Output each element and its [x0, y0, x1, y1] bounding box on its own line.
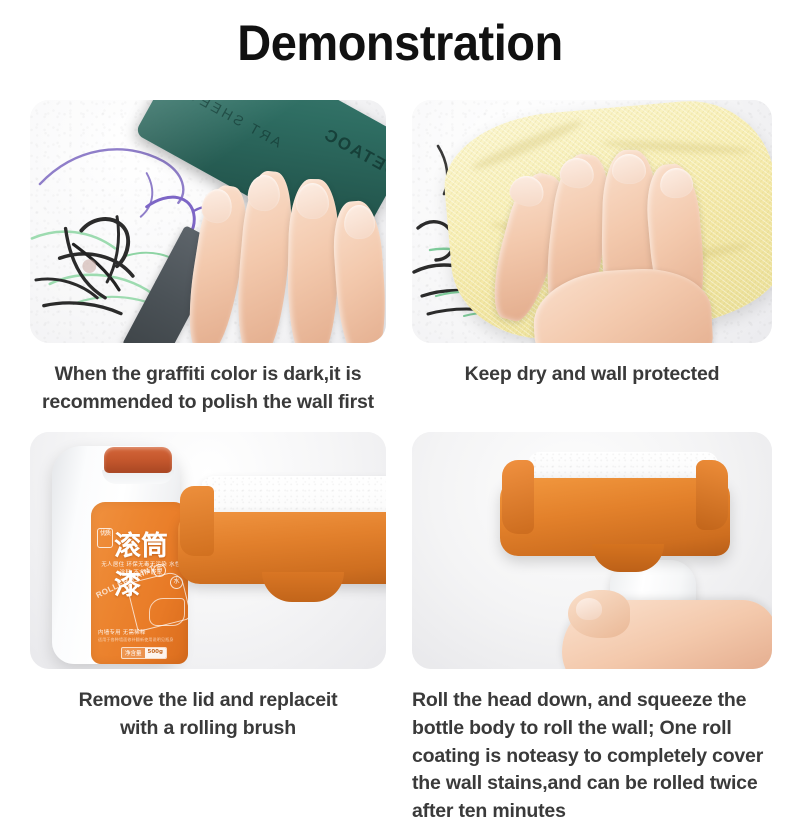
demonstration-step-1: DETAOC ART SHEET 2: [0, 100, 400, 416]
photo-sanding-block-on-scribbled-wall: DETAOC ART SHEET 2: [30, 100, 386, 343]
step-3-caption: Remove the lid and replaceit with a roll…: [30, 687, 386, 742]
roller-stem: [262, 572, 344, 602]
thumbnail: [576, 598, 602, 620]
step-1-caption: When the graffiti color is dark,it is re…: [30, 361, 386, 416]
step-4-caption-line-3: coating is noteasy to completely cover: [412, 743, 772, 771]
roller-bracket-arm: [180, 486, 214, 556]
demonstration-step-3: 优质 滚筒漆 无人居住 环保无毒无污染 水性涂料 不含甲醛苯 ROLLER PA…: [0, 432, 400, 825]
step-4-caption-line-1: Roll the head down, and squeeze the: [412, 687, 772, 715]
paint-bottle: 优质 滚筒漆 无人居住 环保无毒无污染 水性涂料 不含甲醛苯 ROLLER PA…: [52, 446, 180, 664]
roller-bracket-left-arm: [502, 460, 534, 534]
step-3-caption-line-2: with a rolling brush: [30, 715, 386, 743]
demonstration-page: Demonstration: [0, 0, 800, 800]
photo-rolling-bottle-on-wall: [412, 432, 772, 669]
hand-wiping-wall: [498, 130, 748, 343]
demonstration-grid: DETAOC ART SHEET 2: [0, 100, 800, 826]
hand-squeezing-bottle: [562, 582, 772, 669]
photo-paint-bottle-and-roller-head: 优质 滚筒漆 无人居住 环保无毒无污染 水性涂料 不含甲醛苯 ROLLER PA…: [30, 432, 386, 669]
step-4-caption: Roll the head down, and squeeze the bott…: [412, 687, 772, 825]
step-4-caption-line-5: after ten minutes: [412, 798, 772, 826]
step-4-caption-line-2: bottle body to roll the wall; One roll: [412, 715, 772, 743]
demonstration-row-1: DETAOC ART SHEET 2: [0, 100, 800, 416]
label-weight-value: 500g: [145, 648, 166, 658]
demonstration-row-2: 优质 滚筒漆 无人居住 环保无毒无污染 水性涂料 不含甲醛苯 ROLLER PA…: [0, 432, 800, 825]
label-footer: 内墙专用 无需稀释: [98, 628, 146, 636]
label-weight-name: 净含量: [122, 648, 145, 658]
hand-holding-sanding-block: [182, 149, 386, 343]
page-title: Demonstration: [24, 14, 776, 72]
label-weight-badge: 净含量 500g: [121, 647, 167, 659]
label-footer-small: 适用于各种墙面修补翻新使用说明见瓶身: [98, 637, 174, 643]
label-brand-badge: 优质: [97, 528, 113, 548]
step-1-caption-line-2: recommended to polish the wall first: [30, 389, 386, 417]
roller-bracket-right-arm: [696, 460, 728, 530]
step-2-caption: Keep dry and wall protected: [412, 361, 772, 389]
bottle-label: 优质 滚筒漆 无人居住 环保无毒无污染 水性涂料 不含甲醛苯 ROLLER PA…: [91, 502, 188, 664]
demonstration-step-4: Roll the head down, and squeeze the bott…: [400, 432, 800, 825]
step-2-caption-line-1: Keep dry and wall protected: [412, 361, 772, 389]
roller-applicator: [500, 452, 730, 588]
roller-brush-head: [178, 476, 386, 626]
step-1-caption-line-1: When the graffiti color is dark,it is: [30, 361, 386, 389]
step-4-caption-line-4: the wall stains,and can be rolled twice: [412, 770, 772, 798]
step-3-caption-line-1: Remove the lid and replaceit: [30, 687, 386, 715]
photo-wiping-wall-with-yellow-cloth: [412, 100, 772, 343]
roller-neck: [592, 544, 664, 572]
bottle-cap: [104, 447, 172, 473]
demonstration-step-2: Keep dry and wall protected: [400, 100, 800, 416]
